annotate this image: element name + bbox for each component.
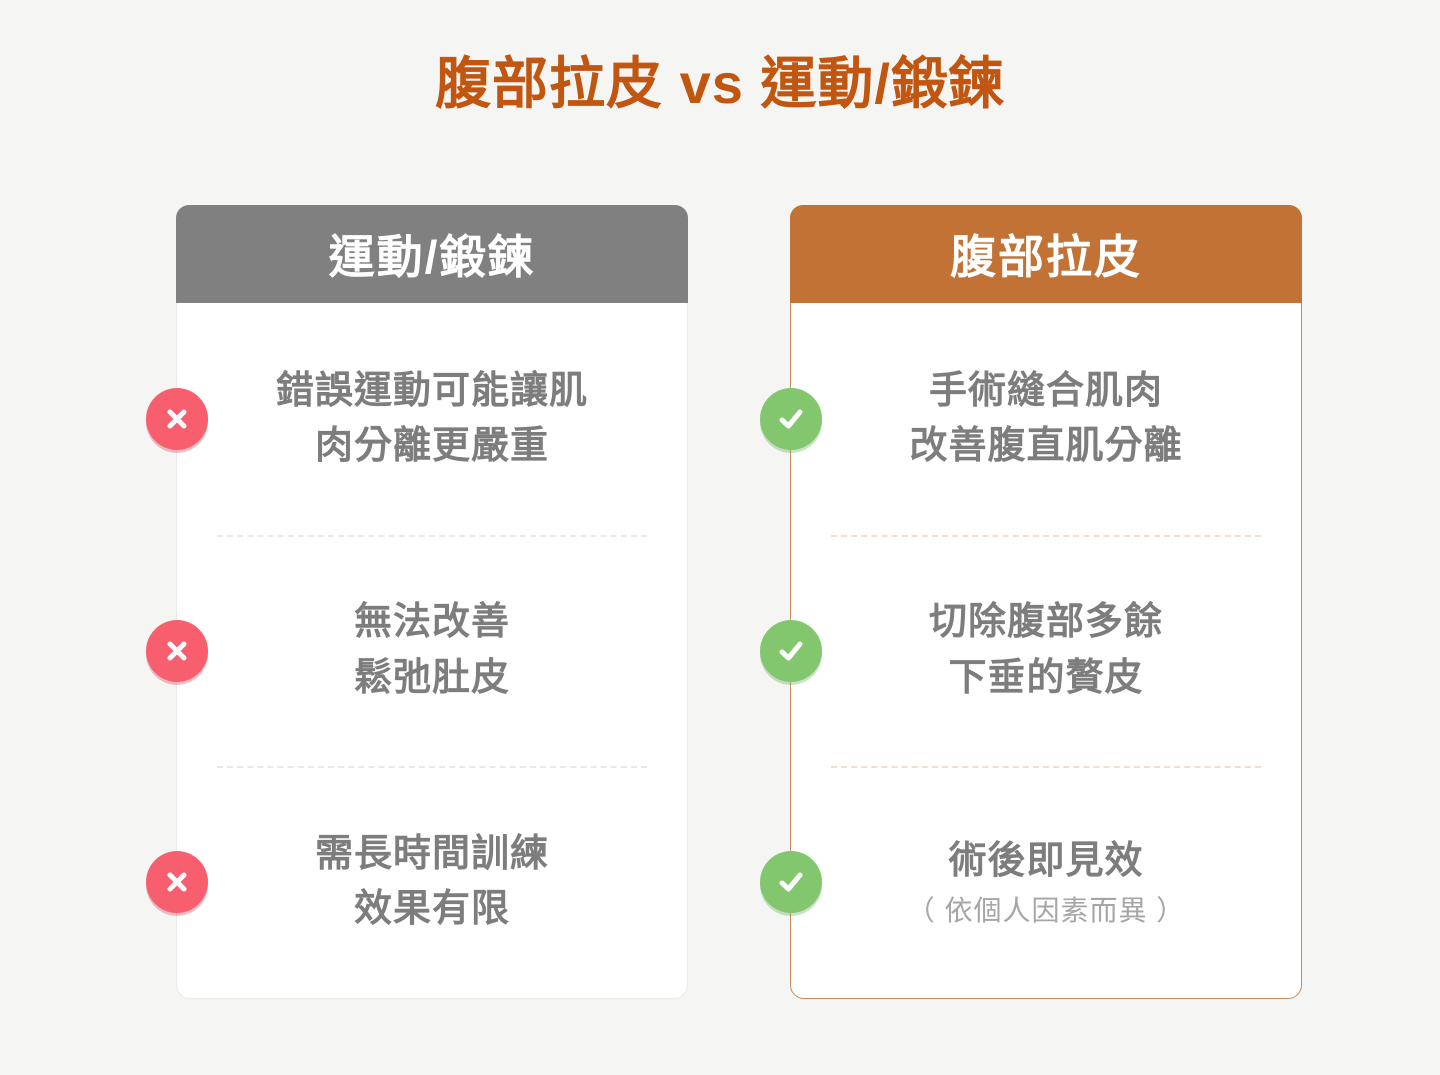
check-icon (760, 851, 822, 913)
list-item-text: 手術縫合肌肉 改善腹直肌分離 (909, 364, 1182, 474)
card-body-exercise: 錯誤運動可能讓肌 肉分離更嚴重 無法改善 鬆弛肚皮 (177, 303, 687, 998)
list-item-text: 錯誤運動可能讓肌 肉分離更嚴重 (276, 364, 588, 474)
list-item: 手術縫合肌肉 改善腹直肌分離 (825, 303, 1267, 535)
page-title: 腹部拉皮 vs 運動/鍛鍊 (0, 52, 1440, 116)
card-body-surgery: 手術縫合肌肉 改善腹直肌分離 切除腹部多餘 下垂的贅皮 (791, 303, 1301, 998)
list-item: 術後即見效 （ 依個人因素而異 ） (825, 766, 1267, 998)
list-item-text: 術後即見效 (948, 834, 1143, 889)
list-item-text: 無法改善 鬆弛肚皮 (354, 595, 510, 705)
list-item-subtext: （ 依個人因素而異 ） (907, 891, 1186, 930)
comparison-cards: 運動/鍛鍊 錯誤運動可能讓肌 肉分離更嚴重 (176, 205, 1302, 999)
card-header-surgery: 腹部拉皮 (790, 205, 1302, 303)
cross-icon (146, 620, 208, 682)
card-exercise: 運動/鍛鍊 錯誤運動可能讓肌 肉分離更嚴重 (176, 205, 688, 999)
cross-icon (146, 851, 208, 913)
comparison-infographic: 腹部拉皮 vs 運動/鍛鍊 運動/鍛鍊 錯誤運動可能讓肌 肉分離更嚴重 (0, 0, 1440, 1075)
list-item: 無法改善 鬆弛肚皮 (211, 535, 653, 767)
list-item-text: 切除腹部多餘 下垂的贅皮 (929, 595, 1163, 705)
list-item: 需長時間訓練 效果有限 (211, 766, 653, 998)
list-item: 切除腹部多餘 下垂的贅皮 (825, 535, 1267, 767)
card-surgery: 腹部拉皮 手術縫合肌肉 改善腹直肌分離 (790, 205, 1302, 999)
cross-icon (146, 388, 208, 450)
card-header-exercise: 運動/鍛鍊 (176, 205, 688, 303)
list-item-text: 需長時間訓練 效果有限 (315, 827, 549, 937)
check-icon (760, 388, 822, 450)
check-icon (760, 620, 822, 682)
list-item: 錯誤運動可能讓肌 肉分離更嚴重 (211, 303, 653, 535)
